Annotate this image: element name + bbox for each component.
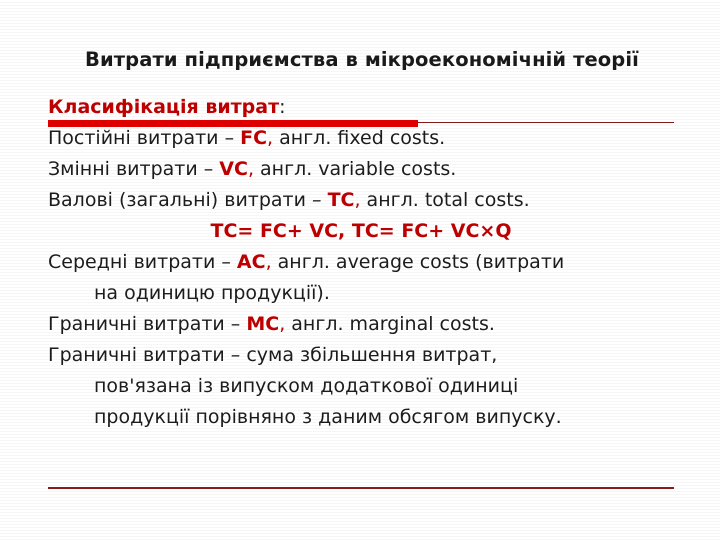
slide-canvas: Витрати підприємства в мікроекономічній … bbox=[0, 0, 720, 540]
classification-heading-label: Класифікація витрат bbox=[48, 96, 279, 118]
total-costs-text-after: англ. total costs. bbox=[361, 189, 530, 211]
slide-body: Класифікація витрат: Постійні витрати – … bbox=[48, 92, 674, 433]
average-costs-abbr: AC bbox=[237, 251, 266, 273]
fixed-costs-text-after: англ. fixed costs. bbox=[273, 127, 445, 149]
marginal-costs-abbr: MC bbox=[246, 313, 279, 335]
heading-underline-rule bbox=[48, 119, 674, 127]
marginal-definition-line-1: Граничні витрати – сума збільшення витра… bbox=[48, 340, 674, 371]
marginal-definition-line-2: пов'язана із випуском додаткової одиниці bbox=[48, 371, 674, 402]
bottom-divider-rule bbox=[48, 487, 674, 489]
variable-costs-text-before: Змінні витрати – bbox=[48, 158, 219, 180]
average-costs-text-after: англ. average costs (витрати bbox=[272, 251, 565, 273]
list-item: Граничні витрати – MC, англ. marginal co… bbox=[48, 309, 674, 340]
classification-heading-row: Класифікація витрат: bbox=[48, 92, 674, 123]
marginal-costs-text-after: англ. marginal costs. bbox=[285, 313, 495, 335]
classification-heading-colon: : bbox=[279, 96, 285, 118]
total-costs-abbr: TC bbox=[328, 189, 355, 211]
heading-rule-thick bbox=[48, 120, 418, 127]
variable-costs-text-after: англ. variable costs. bbox=[254, 158, 456, 180]
marginal-costs-text-before: Граничні витрати – bbox=[48, 313, 246, 335]
fixed-costs-abbr: FC bbox=[240, 127, 267, 149]
list-item: Змінні витрати – VC, англ. variable cost… bbox=[48, 154, 674, 185]
cost-formula: TC= FC+ VC, TC= FC+ VC×Q bbox=[48, 216, 674, 247]
list-item: Валові (загальні) витрати – TC, англ. to… bbox=[48, 185, 674, 216]
fixed-costs-text-before: Постійні витрати – bbox=[48, 127, 240, 149]
variable-costs-abbr: VC bbox=[219, 158, 248, 180]
list-item: Постійні витрати – FC, англ. fixed costs… bbox=[48, 123, 674, 154]
list-item: Середні витрати – AC, англ. average cost… bbox=[48, 247, 674, 278]
total-costs-text-before: Валові (загальні) витрати – bbox=[48, 189, 328, 211]
average-costs-text-before: Середні витрати – bbox=[48, 251, 237, 273]
marginal-definition-line-3: продукції порівняно з даним обсягом випу… bbox=[48, 402, 674, 433]
average-costs-continuation: на одиницю продукції). bbox=[48, 278, 674, 309]
page-title: Витрати підприємства в мікроекономічній … bbox=[40, 48, 684, 71]
